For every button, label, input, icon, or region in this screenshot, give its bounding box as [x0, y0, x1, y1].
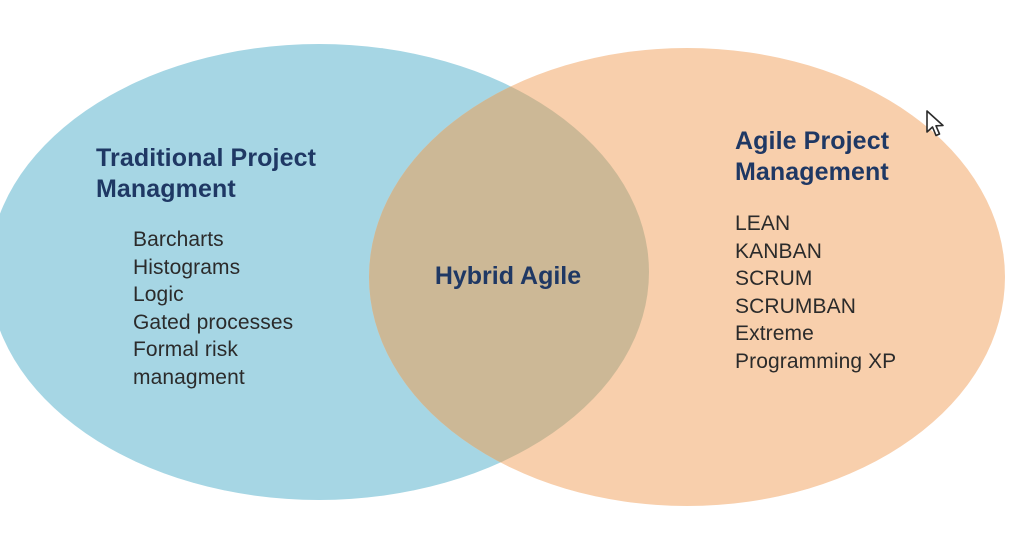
- venn-diagram-canvas: Traditional Project Managment Barcharts …: [0, 0, 1024, 543]
- list-item: SCRUM: [735, 265, 1024, 293]
- right-set-list: LEAN KANBAN SCRUM SCRUMBAN Extreme Progr…: [735, 210, 1024, 375]
- list-item: LEAN: [735, 210, 1024, 238]
- right-title-line1: Agile Project: [735, 127, 889, 155]
- left-set-title: Traditional Project Managment: [96, 143, 376, 205]
- list-item: Extreme: [735, 320, 1024, 348]
- list-item: KANBAN: [735, 238, 1024, 266]
- list-item: Programming XP: [735, 348, 1024, 376]
- overlap-label: Hybrid Agile: [398, 262, 618, 291]
- list-item: Formal risk: [133, 336, 396, 364]
- left-set-list: Barcharts Histograms Logic Gated process…: [133, 226, 396, 391]
- left-set-group: Traditional Project Managment Barcharts …: [96, 143, 396, 391]
- overlap-label-group: Hybrid Agile: [398, 262, 618, 291]
- list-item: Barcharts: [133, 226, 396, 254]
- list-item: Logic: [133, 281, 396, 309]
- list-item: Histograms: [133, 254, 396, 282]
- left-title-line2: Managment: [96, 174, 376, 205]
- right-title-line2: Management: [735, 157, 1024, 188]
- left-title-line1: Traditional Project: [96, 144, 316, 172]
- list-item: Gated processes: [133, 309, 396, 337]
- right-set-title: Agile Project Management: [735, 126, 1024, 188]
- right-set-group: Agile Project Management LEAN KANBAN SCR…: [735, 126, 1024, 375]
- list-item: managment: [133, 364, 396, 392]
- list-item: SCRUMBAN: [735, 293, 1024, 321]
